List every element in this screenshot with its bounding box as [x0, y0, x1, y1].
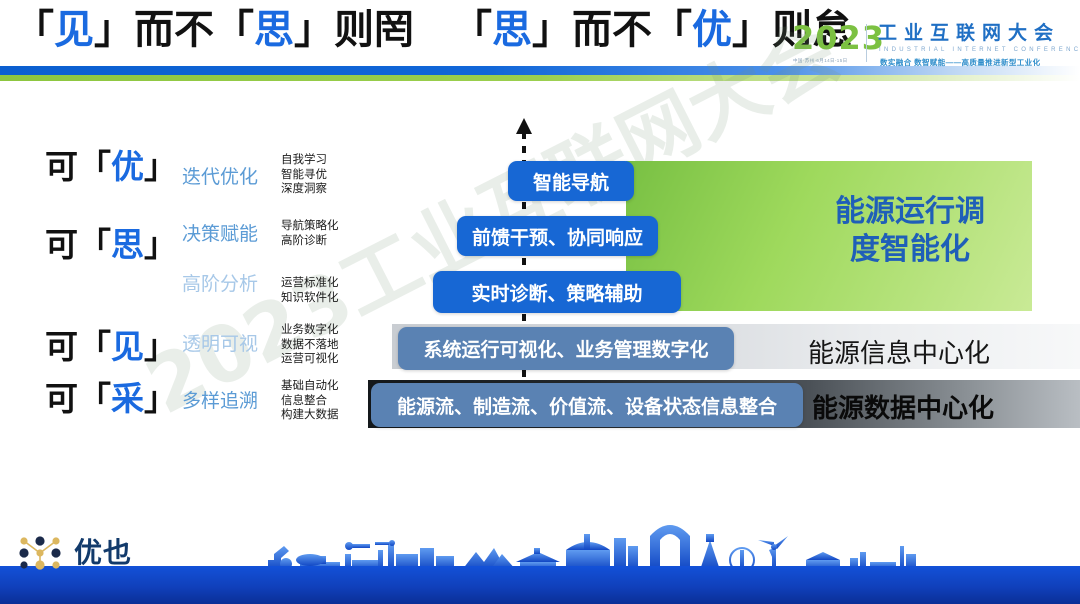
capability-details-4: 基础自动化信息整合构建大数据 — [281, 379, 339, 423]
detail-item: 自我学习 — [281, 153, 327, 168]
capability-label-0: 迭代优化 — [182, 168, 258, 187]
detail-item: 知识软件化 — [281, 291, 339, 306]
slide-canvas: 「见」而不「思」则罔「思」而不「优」则怠 2023 中国·苏州·6月14日-15… — [0, 0, 1080, 604]
capability-details-3: 业务数字化数据不落地运营可视化 — [281, 323, 339, 367]
energy-info-label: 能源信息中心化 — [808, 333, 990, 370]
energy-dispatch-label-line1: 能源运行调 — [780, 193, 1040, 231]
capability-pill-3[interactable]: 系统运行可视化、业务管理数字化 — [398, 327, 734, 370]
detail-item: 数据不落地 — [281, 338, 339, 353]
header-rule-green — [0, 75, 1080, 81]
logo-divider — [866, 24, 867, 62]
detail-item: 运营标准化 — [281, 276, 339, 291]
maturity-level-label-1: 可「思」 — [45, 228, 177, 261]
energy-dispatch-label: 能源运行调 度智能化 — [780, 193, 1040, 268]
capability-label-4: 多样追溯 — [182, 392, 258, 411]
capability-pill-4[interactable]: 能源流、制造流、价值流、设备状态信息整合 — [371, 383, 803, 427]
energy-data-label: 能源数据中心化 — [812, 388, 994, 425]
detail-item: 信息整合 — [281, 394, 339, 409]
level-keyword: 采 — [111, 379, 144, 418]
page-title: 「见」而不「思」则罔「思」而不「优」则怠 — [14, 10, 852, 50]
detail-item: 业务数字化 — [281, 323, 339, 338]
conference-date-location: 中国·苏州·6月14日-15日 — [793, 58, 848, 64]
detail-item: 构建大数据 — [281, 408, 339, 423]
capability-details-0: 自我学习智能寻优深度洞察 — [281, 153, 327, 197]
detail-item: 高阶诊断 — [281, 234, 339, 249]
conference-tagline: 数实融合 数智赋能——高质量推进新型工业化 — [880, 57, 1040, 68]
title-segment-2: 」而不「 — [94, 7, 254, 53]
level-prefix: 可「 — [45, 225, 111, 264]
detail-item: 智能寻优 — [281, 168, 327, 183]
title-segment-0: 「 — [14, 7, 54, 53]
energy-dispatch-label-line2: 度智能化 — [780, 231, 1040, 269]
level-suffix: 」 — [144, 147, 177, 186]
capability-label-1: 决策赋能 — [182, 225, 258, 244]
level-prefix: 可「 — [45, 147, 111, 186]
level-prefix: 可「 — [45, 327, 111, 366]
capability-label-3: 透明可视 — [182, 335, 258, 354]
title-segment-8: 」而不「 — [532, 7, 692, 53]
level-keyword: 优 — [111, 147, 144, 186]
conference-name-en: INDUSTRIAL INTERNET CONFERENCE — [879, 47, 1080, 53]
capability-pill-0[interactable]: 智能导航 — [508, 161, 634, 201]
title-segment-6: 「 — [452, 7, 492, 53]
conference-logo: 2023 中国·苏州·6月14日-15日 工业互联网大会 INDUSTRIAL … — [792, 22, 1076, 72]
capability-label-2: 高阶分析 — [182, 275, 258, 294]
level-keyword: 思 — [111, 225, 144, 264]
company-name: 优也 — [74, 538, 132, 569]
title-segment-1: 见 — [54, 7, 94, 53]
company-mark-icon — [18, 536, 64, 570]
detail-item: 基础自动化 — [281, 379, 339, 394]
company-logo: 优也 — [18, 536, 168, 576]
maturity-level-label-0: 可「优」 — [45, 150, 177, 183]
detail-item: 导航策略化 — [281, 219, 339, 234]
maturity-level-label-3: 可「见」 — [45, 330, 177, 363]
level-suffix: 」 — [144, 225, 177, 264]
title-segment-3: 思 — [254, 7, 294, 53]
maturity-level-label-4: 可「采」 — [45, 382, 177, 415]
title-segment-4: 」则罔 — [294, 7, 414, 53]
title-segment-7: 思 — [492, 7, 532, 53]
capability-pill-1[interactable]: 前馈干预、协同响应 — [457, 216, 658, 256]
conference-year: 2023 — [792, 22, 885, 54]
capability-pill-2[interactable]: 实时诊断、策略辅助 — [433, 271, 681, 313]
level-keyword: 见 — [111, 327, 144, 366]
title-segment-9: 优 — [692, 7, 732, 53]
level-suffix: 」 — [144, 379, 177, 418]
level-prefix: 可「 — [45, 379, 111, 418]
detail-item: 深度洞察 — [281, 182, 327, 197]
capability-details-2: 运营标准化知识软件化 — [281, 276, 339, 305]
capability-details-1: 导航策略化高阶诊断 — [281, 219, 339, 248]
detail-item: 运营可视化 — [281, 352, 339, 367]
conference-name-cn: 工业互联网大会 — [878, 24, 1060, 43]
level-suffix: 」 — [144, 327, 177, 366]
